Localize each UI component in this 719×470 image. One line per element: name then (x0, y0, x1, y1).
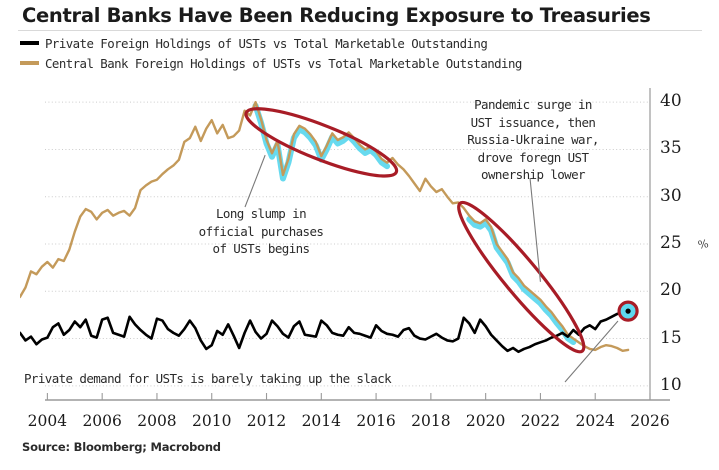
x-axis-label-2022: 2022 (514, 412, 566, 430)
annotation-private-demand: Private demand for USTs is barely taking… (24, 370, 564, 388)
legend-swatch-official (20, 61, 39, 65)
x-axis-label-2026: 2026 (624, 412, 676, 430)
y-axis-unit: % (697, 237, 710, 252)
x-axis-label-2018: 2018 (405, 412, 457, 430)
legend-label-official: Central Bank Foreign Holdings of USTs vs… (45, 56, 522, 71)
cyan-highlight-0 (256, 106, 387, 179)
x-axis-label-2006: 2006 (76, 412, 128, 430)
chart-root: Central Banks Have Been Reducing Exposur… (0, 0, 719, 470)
leader-long-slump (245, 155, 265, 207)
legend-label-private: Private Foreign Holdings of USTs vs Tota… (45, 36, 487, 51)
x-axis-label-2016: 2016 (350, 412, 402, 430)
x-axis-label-2004: 2004 (21, 412, 73, 430)
y-axis-label-10: 10 (660, 375, 682, 395)
x-axis-label-2020: 2020 (460, 412, 512, 430)
x-axis-label-2008: 2008 (131, 412, 183, 430)
y-axis-label-15: 15 (660, 328, 682, 348)
endpoint-marker (625, 309, 630, 314)
series-line-private (20, 311, 628, 352)
y-axis-label-20: 20 (660, 280, 682, 300)
x-axis-label-2010: 2010 (186, 412, 238, 430)
legend-swatch-private (20, 41, 39, 45)
x-axis-label-2012: 2012 (241, 412, 293, 430)
x-axis-label-2024: 2024 (569, 412, 621, 430)
y-axis-label-40: 40 (660, 91, 682, 111)
legend-item-private: Private Foreign Holdings of USTs vs Tota… (20, 33, 680, 53)
x-axis-ticks (47, 393, 650, 400)
annotation-long-slump: Long slump in official purchases of USTs… (146, 205, 376, 258)
x-axis-label-2014: 2014 (295, 412, 347, 430)
title-divider (18, 30, 702, 31)
y-axis-label-30: 30 (660, 186, 682, 206)
y-axis-label-35: 35 (660, 138, 682, 158)
y-axis-label-25: 25 (660, 233, 682, 253)
annotation-pandemic: Pandemic surge in UST issuance, then Rus… (428, 96, 638, 184)
annotation-leader-lines (245, 155, 618, 382)
source-note: Source: Bloomberg; Macrobond (22, 440, 221, 454)
chart-legend: Private Foreign Holdings of USTs vs Tota… (20, 33, 680, 73)
chart-title: Central Banks Have Been Reducing Exposur… (22, 4, 651, 27)
legend-item-official: Central Bank Foreign Holdings of USTs vs… (20, 53, 680, 73)
